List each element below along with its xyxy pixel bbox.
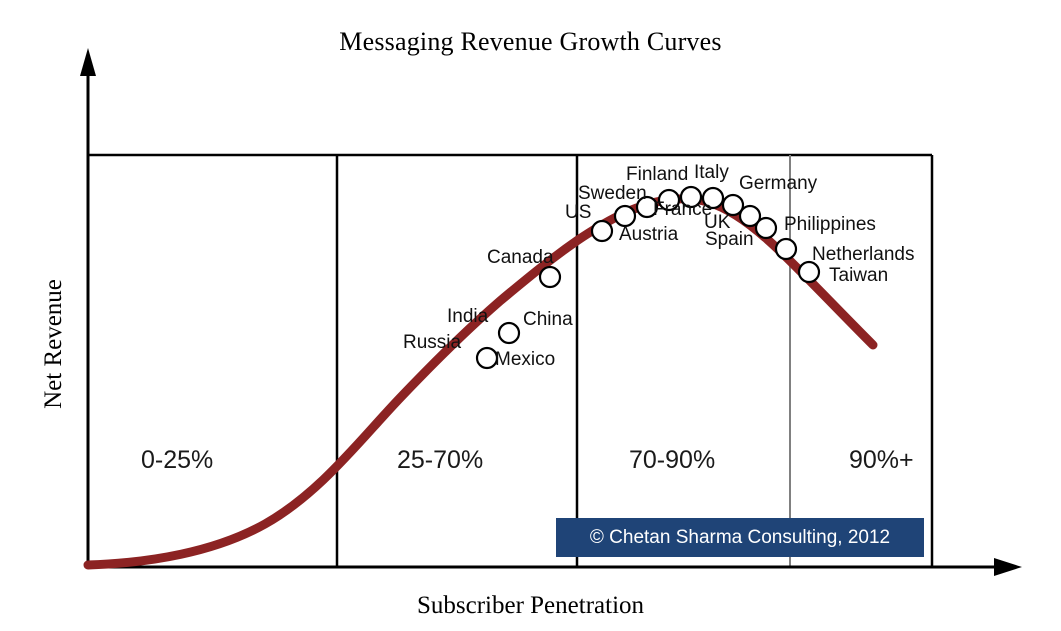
point-label-india: India <box>447 307 488 326</box>
chart-title: Messaging Revenue Growth Curves <box>0 27 1061 57</box>
zone-label-0-25: 0-25% <box>141 446 213 475</box>
point-label-sweden: Sweden <box>578 184 647 203</box>
y-axis-title: Net Revenue <box>40 244 68 444</box>
marker-canada <box>540 267 560 287</box>
marker-sweden-austria <box>615 206 635 226</box>
point-label-germany: Germany <box>739 174 817 193</box>
marker-india-china <box>499 323 519 343</box>
x-axis-title: Subscriber Penetration <box>0 592 1061 620</box>
point-label-austria: Austria <box>619 225 678 244</box>
marker-netherlands-taiwan <box>799 262 819 282</box>
marker-russia-mexico <box>477 348 497 368</box>
x-axis-arrowhead <box>994 558 1022 576</box>
point-label-finland: Finland <box>626 165 688 184</box>
marker-spain <box>756 218 776 238</box>
copyright-banner: © Chetan Sharma Consulting, 2012 <box>556 518 924 557</box>
point-label-italy: Italy <box>694 163 729 182</box>
zone-label-70-90: 70-90% <box>629 446 715 475</box>
point-label-netherlands: Netherlands <box>812 245 914 264</box>
chart-canvas: Messaging Revenue Growth Curves Net Reve… <box>0 0 1061 631</box>
point-label-mexico: Mexico <box>495 350 555 369</box>
point-label-russia: Russia <box>403 333 461 352</box>
x-axis <box>88 558 1022 576</box>
point-label-taiwan: Taiwan <box>829 266 888 285</box>
point-label-canada: Canada <box>487 248 554 267</box>
zone-label-25-70: 25-70% <box>397 446 483 475</box>
marker-us <box>592 221 612 241</box>
y-axis <box>80 48 96 567</box>
revenue-curve <box>88 199 873 565</box>
point-label-china: China <box>523 310 573 329</box>
point-label-spain: Spain <box>705 230 754 249</box>
point-label-us: US <box>565 203 591 222</box>
zone-label-90-plus: 90%+ <box>849 446 914 475</box>
point-label-philippines: Philippines <box>784 215 876 234</box>
marker-philippines <box>776 239 796 259</box>
copyright-text: © Chetan Sharma Consulting, 2012 <box>590 527 890 549</box>
